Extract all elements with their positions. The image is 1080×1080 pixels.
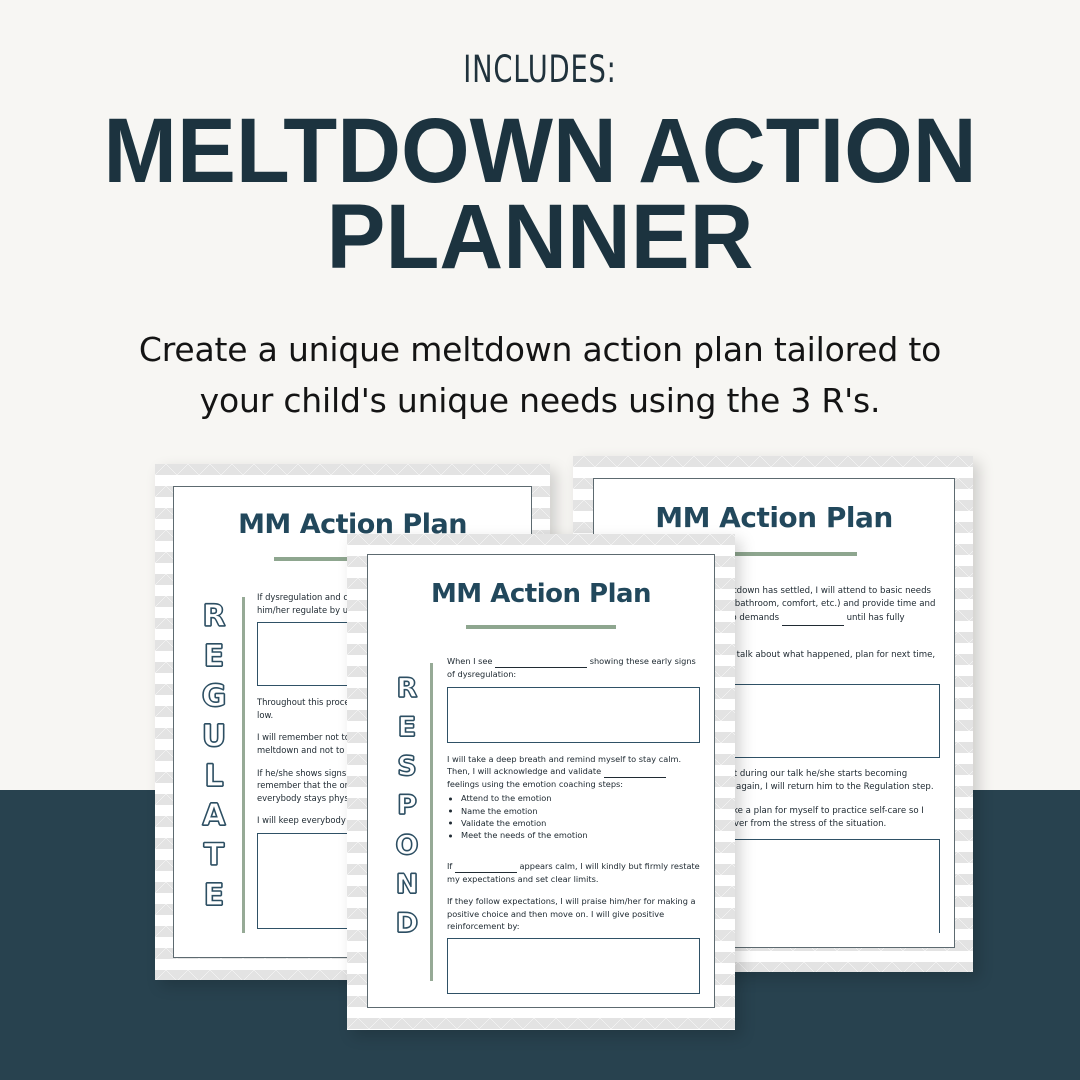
side-letter: R (202, 597, 225, 637)
worksheet-page: MM Action Plan R E S P O N D When I see (367, 554, 715, 1008)
side-word-respond: R E S P O N D (384, 655, 430, 991)
section-divider-bar (242, 597, 245, 933)
paragraph: I will take a deep breath and remind mys… (447, 753, 700, 791)
worksheet-content: R E S P O N D When I see showing these e… (384, 655, 700, 991)
side-letter: E (398, 708, 416, 747)
worksheet-title: MM Action Plan (594, 501, 954, 534)
page-subtitle: Create a unique meltdown action plan tai… (0, 324, 1080, 426)
page-title: MELTDOWN ACTION PLANNER (22, 109, 1059, 280)
section-divider-bar (430, 663, 433, 981)
fill-in-blank[interactable] (604, 765, 666, 778)
side-letter: D (396, 904, 418, 943)
fill-in-blank[interactable] (782, 612, 844, 626)
side-letter: S (397, 747, 416, 786)
paragraph-text: If (447, 861, 452, 871)
side-letter: O (396, 826, 419, 865)
emotion-coaching-steps: Attend to the emotion Name the emotion V… (447, 792, 700, 841)
poster-canvas: INCLUDES: MELTDOWN ACTION PLANNER Create… (0, 0, 1080, 1080)
side-letter: L (204, 757, 223, 797)
list-item: Meet the needs of the emotion (447, 829, 700, 841)
side-letter: N (396, 865, 419, 904)
side-letter: G (202, 677, 227, 717)
worksheet-body: When I see showing these early signs of … (447, 655, 700, 991)
list-item: Validate the emotion (447, 817, 700, 829)
write-in-box[interactable] (447, 687, 700, 743)
document-preview-respond[interactable]: MM Action Plan R E S P O N D When I see (347, 534, 735, 1030)
side-word-regulate: R E G U L A T E (188, 591, 240, 943)
title-rule (466, 625, 616, 629)
paragraph: When I see showing these early signs of … (447, 655, 700, 681)
list-item: Name the emotion (447, 805, 700, 817)
paragraph-text: feelings using the emotion coaching step… (447, 779, 623, 789)
fill-in-blank[interactable] (455, 860, 517, 873)
page-title-line2: PLANNER (22, 195, 1059, 281)
page-title-line1: MELTDOWN ACTION (22, 109, 1059, 195)
side-letter: R (397, 669, 418, 708)
fill-in-blank[interactable] (495, 655, 587, 668)
side-letter: E (204, 876, 225, 916)
paragraph: If they follow expectations, I will prai… (447, 895, 700, 932)
side-letter: P (397, 786, 417, 825)
side-letter: U (202, 717, 226, 757)
side-letter: A (202, 796, 225, 836)
paragraph: If appears calm, I will kindly but firml… (447, 860, 700, 886)
header-block: INCLUDES: MELTDOWN ACTION PLANNER Create… (0, 0, 1080, 426)
side-letter: E (204, 637, 225, 677)
list-item: Attend to the emotion (447, 792, 700, 804)
write-in-box[interactable] (447, 938, 700, 994)
worksheet-title: MM Action Plan (368, 579, 714, 609)
side-letter: T (204, 836, 224, 876)
paragraph-text: When I see (447, 656, 492, 666)
eyebrow-text: INCLUDES: (97, 48, 983, 91)
